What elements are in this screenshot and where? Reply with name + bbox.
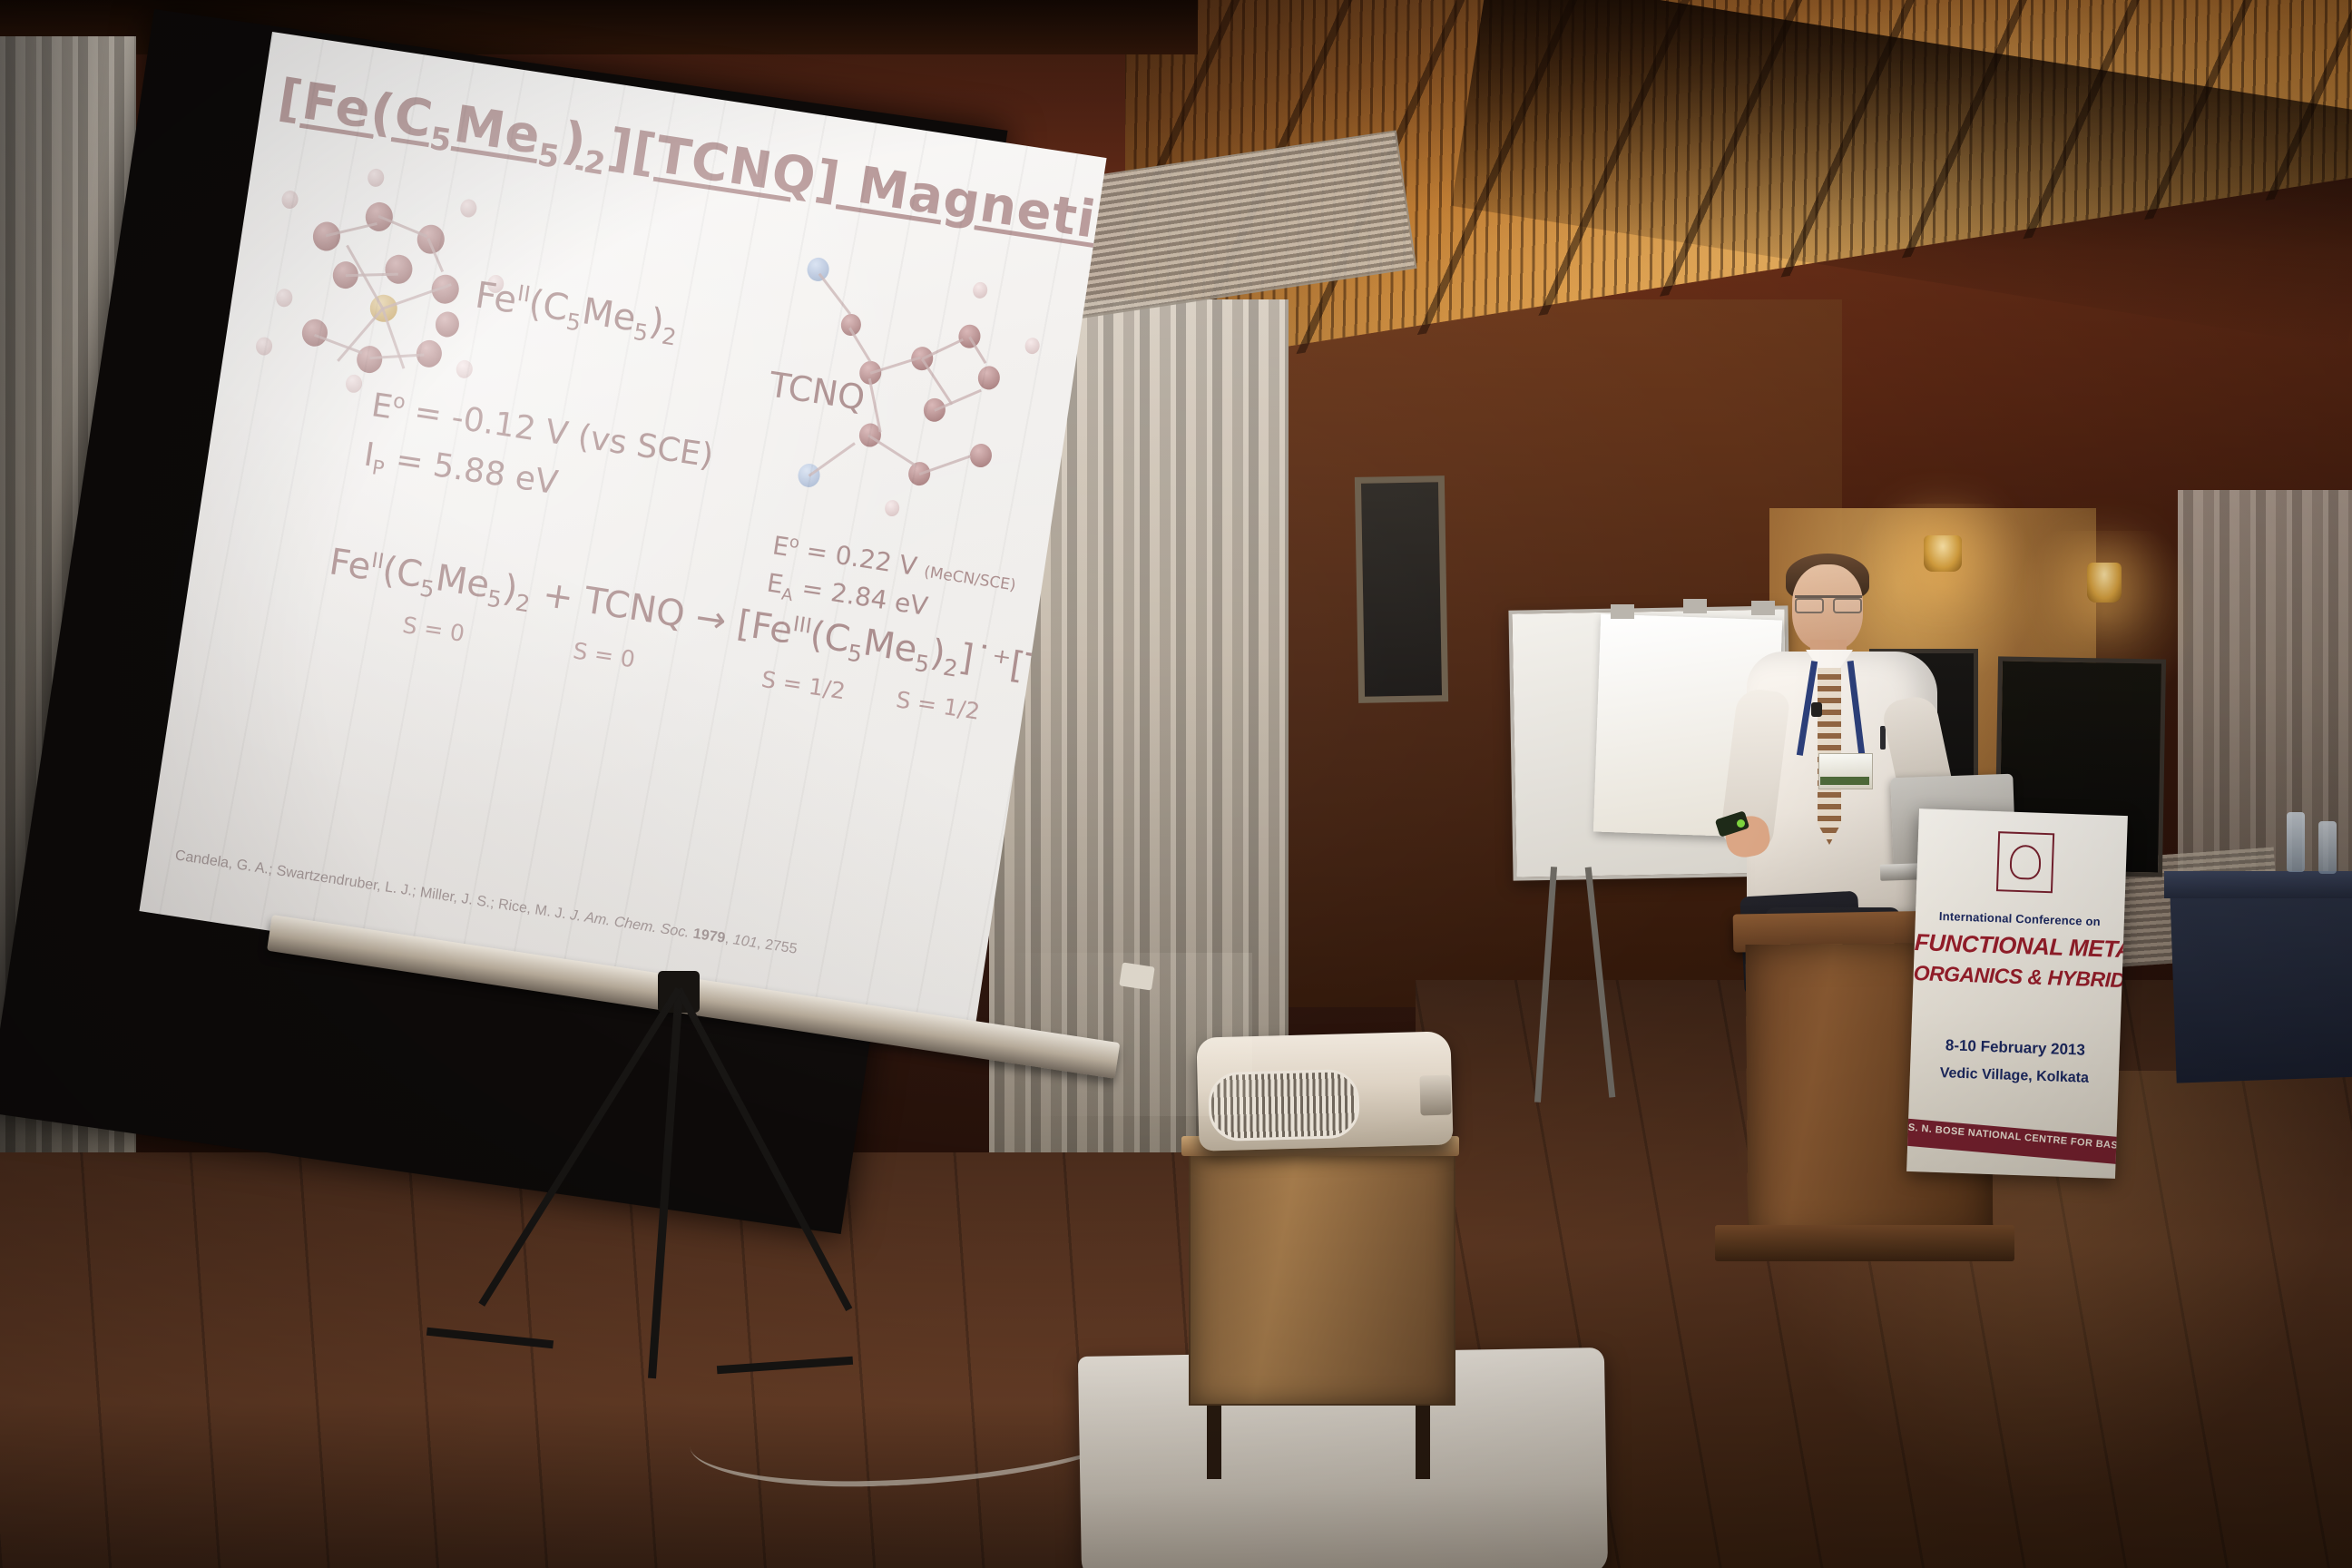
atom-hydrogen <box>455 359 474 379</box>
bond <box>808 442 856 476</box>
conference-banner: International Conference on FUNCTIONAL M… <box>1906 808 2128 1179</box>
atom-hydrogen <box>367 168 386 188</box>
water-bottle <box>2287 812 2305 872</box>
atom-carbon <box>968 442 994 468</box>
presenter-clip-microphone <box>1811 702 1822 717</box>
atom-hydrogen <box>255 336 274 356</box>
podium-base <box>1715 1225 2014 1261</box>
atom-carbon <box>434 310 461 339</box>
bond <box>848 328 871 363</box>
projector-wooden-stand <box>1189 1148 1455 1406</box>
water-bottle <box>2318 821 2337 874</box>
atom-nitrogen <box>806 256 831 282</box>
banner-dates: 8-10 February 2013 <box>1911 1035 2121 1061</box>
atom-carbon <box>300 318 329 348</box>
banner-title-line-2: ORGANICS & HYBRIDS <box>1913 961 2122 993</box>
projector-stand-leg <box>1416 1397 1430 1479</box>
side-table <box>2170 886 2352 1083</box>
atom-hydrogen <box>275 288 294 308</box>
spin-label-reactant-1: S = 0 <box>401 612 466 647</box>
remote-led-indicator <box>1737 819 1745 828</box>
framed-picture <box>1355 475 1448 703</box>
atom-hydrogen <box>280 190 299 210</box>
bond <box>867 434 916 466</box>
spin-label-reactant-2: S = 0 <box>572 637 637 672</box>
presenter-badge-color-bar <box>1820 777 1869 785</box>
atom-carbon <box>976 365 1002 391</box>
atom-hydrogen <box>1024 337 1041 355</box>
flipchart-clip <box>1683 599 1707 613</box>
atom-hydrogen <box>345 374 364 394</box>
atom-hydrogen <box>884 499 901 517</box>
wall-lamp-right <box>2087 563 2122 603</box>
projection-screen: [Fe(C5Me5)2][TCNQ] Magnetically Orders F… <box>136 0 1053 1152</box>
banner-title-line-1: FUNCTIONAL METAL <box>1914 928 2123 964</box>
bond <box>818 273 851 315</box>
spin-label-product-2: S = 1/2 <box>895 686 982 725</box>
atom-hydrogen <box>972 281 989 299</box>
slide-surface: [Fe(C5Me5)2][TCNQ] Magnetically Orders F… <box>139 32 1106 1037</box>
banner-venue: Vedic Village, Kolkata <box>1910 1064 2119 1088</box>
side-table-top <box>2164 871 2352 898</box>
atom-carbon <box>383 253 414 286</box>
presenter-glasses <box>1795 595 1862 610</box>
projector-lens <box>1419 1075 1451 1116</box>
screen-roller-end-cap <box>1119 962 1154 990</box>
projector-stand-leg <box>1207 1397 1221 1479</box>
projector-vent-grille <box>1208 1069 1360 1142</box>
spin-label-product-1: S = 1/2 <box>759 666 847 705</box>
atom-carbon <box>416 223 446 256</box>
ferrocene-molecule-diagram <box>240 133 544 407</box>
banner-line-international: International Conference on <box>1916 908 2124 929</box>
presentation-room-photo: [Fe(C5Me5)2][TCNQ] Magnetically Orders F… <box>0 0 2352 1568</box>
flipchart-clip <box>1611 604 1634 619</box>
conference-logo-icon <box>1996 831 2054 893</box>
atom-hydrogen <box>459 198 478 218</box>
